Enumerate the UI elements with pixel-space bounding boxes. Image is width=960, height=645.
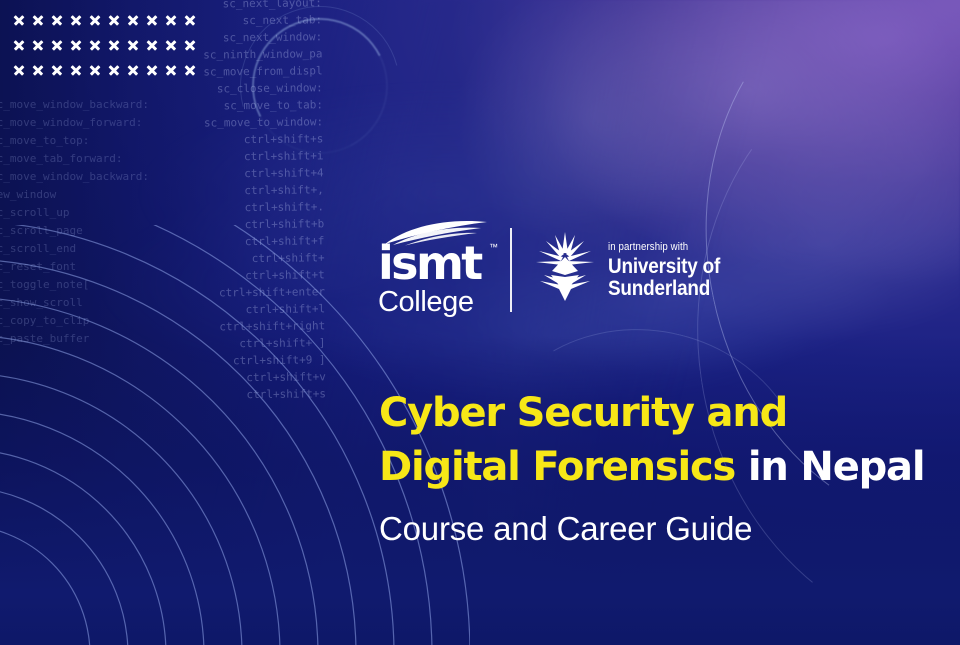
x-mark-icon (165, 64, 177, 76)
university-name-line2: Sunderland (608, 278, 720, 300)
x-mark-icon (146, 14, 158, 26)
x-mark-icon (51, 64, 63, 76)
x-mark-icon (13, 39, 25, 51)
x-mark-icon (127, 14, 139, 26)
x-mark-icon (146, 39, 158, 51)
x-mark-icon (184, 14, 196, 26)
headline-block: Cyber Security and Digital Forensics in … (379, 386, 939, 549)
x-mark-icon (13, 14, 25, 26)
x-mark-icon (89, 64, 101, 76)
ismt-swoosh-icon (383, 220, 491, 246)
x-mark-icon (127, 39, 139, 51)
logo-lockup: ismt ™ College (378, 222, 732, 317)
x-mark-icon (89, 14, 101, 26)
x-mark-icon (108, 64, 120, 76)
x-mark-icon (51, 14, 63, 26)
trademark-icon: ™ (489, 242, 498, 252)
x-mark-icon (108, 14, 120, 26)
x-mark-icon (13, 64, 25, 76)
x-mark-icon (127, 64, 139, 76)
x-mark-icon (32, 39, 44, 51)
university-of-sunderland-logo: in partnership with University of Sunder… (534, 231, 733, 309)
x-mark-icon (32, 14, 44, 26)
x-mark-icon (165, 39, 177, 51)
x-pattern-grid (13, 14, 203, 76)
headline-subtitle: Course and Career Guide (379, 509, 939, 549)
ismt-college-label: College (378, 287, 496, 317)
title-line-2-plain: in Nepal (735, 444, 924, 490)
x-mark-icon (51, 39, 63, 51)
title-line-2: Digital Forensics in Nepal (379, 440, 939, 494)
x-mark-icon (70, 64, 82, 76)
ismt-college-logo: ismt ™ College (378, 222, 496, 317)
ismt-wordmark: ismt (378, 240, 496, 286)
partnership-prefix: in partnership with (608, 241, 718, 253)
title-line-1-highlight: Cyber Security and (379, 390, 787, 436)
x-mark-icon (165, 14, 177, 26)
x-mark-icon (146, 64, 158, 76)
x-mark-icon (32, 64, 44, 76)
x-mark-icon (184, 39, 196, 51)
sunderland-crest-icon (534, 231, 596, 309)
logo-divider (510, 228, 512, 312)
title-line-2-highlight: Digital Forensics (379, 444, 735, 490)
x-mark-icon (70, 39, 82, 51)
x-mark-icon (89, 39, 101, 51)
university-name-line1: University of (608, 256, 720, 278)
title-line-1: Cyber Security and (379, 386, 939, 440)
x-mark-icon (184, 64, 196, 76)
course-guide-banner: sc_next_layout: sc_next_tab: sc_next_win… (0, 0, 960, 645)
x-mark-icon (70, 14, 82, 26)
university-text-block: in partnership with University of Sunder… (608, 239, 733, 300)
x-mark-icon (108, 39, 120, 51)
